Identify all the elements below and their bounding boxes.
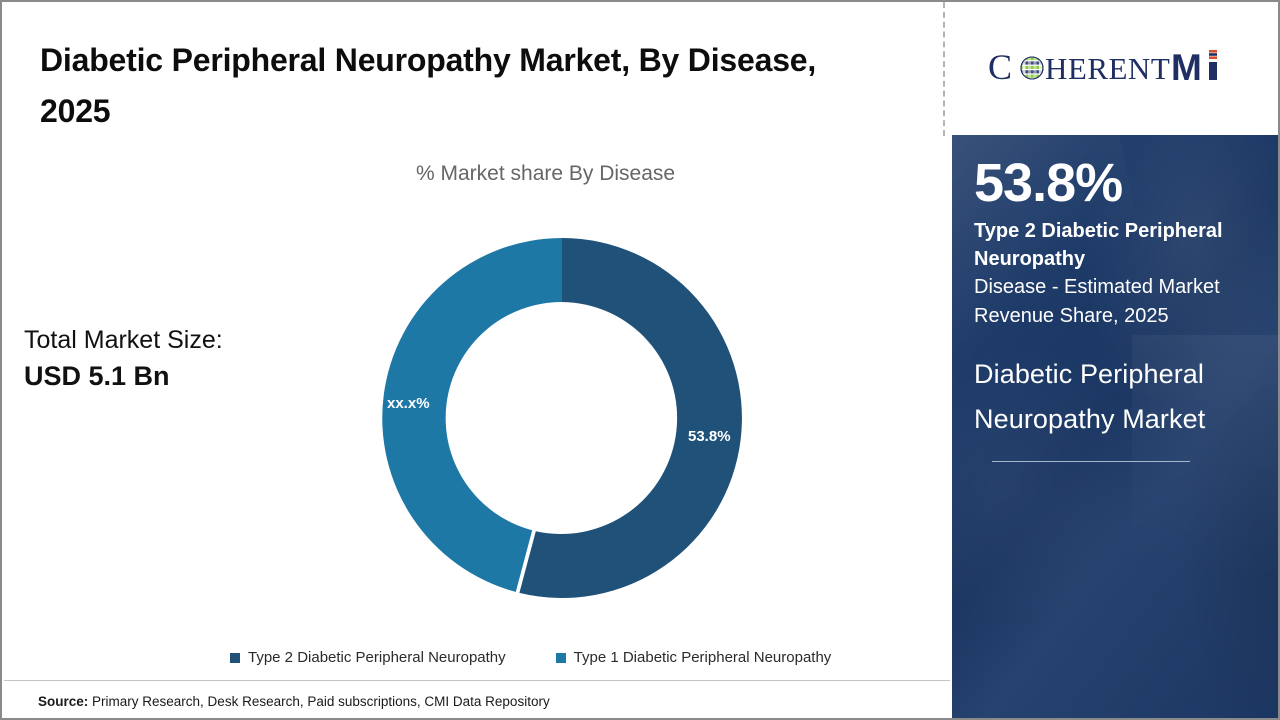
footer-divider (4, 680, 950, 681)
page-title: Diabetic Peripheral Neuropathy Market, B… (40, 35, 830, 136)
infographic-canvas: Diabetic Peripheral Neuropathy Market, B… (0, 0, 1280, 720)
highlight-bold-line: Type 2 Diabetic Peripheral Neuropathy (974, 217, 1258, 274)
svg-text:HERENT: HERENT (1045, 51, 1170, 86)
source-text: Primary Research, Desk Research, Paid su… (92, 694, 550, 709)
highlight-panel-rule (992, 461, 1190, 462)
legend-swatch-type1 (556, 653, 566, 663)
total-market-size-value: USD 5.1 Bn (24, 358, 223, 394)
coherentmi-logo: C HERENT (988, 46, 1250, 92)
donut-label-type2: 53.8% (688, 428, 731, 445)
svg-text:C: C (988, 47, 1012, 87)
highlight-regular-line: Disease - Estimated Market Revenue Share… (974, 273, 1258, 330)
source-line: Source: Primary Research, Desk Research,… (38, 694, 550, 709)
source-label: Source: (38, 694, 88, 709)
highlight-percent: 53.8% (974, 155, 1258, 212)
legend-item-type2[interactable]: Type 2 Diabetic Peripheral Neuropathy (230, 649, 506, 666)
dashed-divider (943, 2, 945, 136)
svg-text:M: M (1171, 47, 1202, 88)
legend-swatch-type2 (230, 653, 240, 663)
legend-label-type2: Type 2 Diabetic Peripheral Neuropathy (248, 649, 506, 666)
highlight-market-name: Diabetic Peripheral Neuropathy Market (974, 352, 1258, 442)
chart-subtitle: % Market share By Disease (416, 162, 675, 186)
globe-sphere-icon (1021, 57, 1043, 79)
highlight-panel-content: 53.8% Type 2 Diabetic Peripheral Neuropa… (952, 155, 1280, 442)
legend-item-type1[interactable]: Type 1 Diabetic Peripheral Neuropathy (556, 649, 832, 666)
total-market-size-block: Total Market Size: USD 5.1 Bn (24, 324, 223, 394)
donut-label-type1: xx.x% (387, 395, 430, 412)
highlight-panel: 53.8% Type 2 Diabetic Peripheral Neuropa… (952, 135, 1280, 720)
donut-chart-svg (374, 230, 750, 606)
logo-artwork: C HERENT (988, 46, 1250, 92)
donut-chart (374, 230, 750, 606)
total-market-size-label: Total Market Size: (24, 324, 223, 358)
chart-legend: Type 2 Diabetic Peripheral Neuropathy Ty… (230, 649, 831, 666)
legend-label-type1: Type 1 Diabetic Peripheral Neuropathy (574, 649, 832, 666)
